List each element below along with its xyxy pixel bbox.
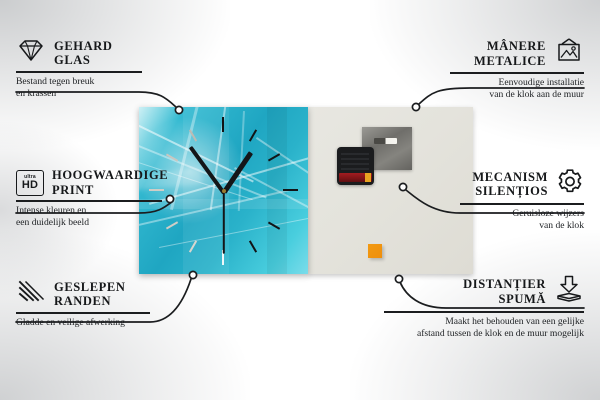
callout-dot-distantier-spuma xyxy=(395,275,402,282)
connector-mecanism-silentios xyxy=(406,190,584,213)
connector-manere-metalice xyxy=(419,88,584,104)
infographic-canvas: GEHARD GLAS Bestand tegen breuk en krass… xyxy=(0,0,600,400)
callout-dot-mecanism-silentios xyxy=(399,183,406,190)
connector-geslepen-randen xyxy=(16,279,191,322)
connector-gehard-glas xyxy=(16,92,176,107)
callout-dot-manere-metalice xyxy=(412,103,419,110)
connector-distantier-spuma xyxy=(400,282,584,308)
callout-connector-lines xyxy=(0,0,600,400)
callout-dot-hoogwaardige-print xyxy=(166,195,173,202)
callout-dot-gehard-glas xyxy=(175,106,182,113)
connector-hoogwaardige-print xyxy=(16,201,173,213)
callout-dot-geslepen-randen xyxy=(189,271,196,278)
